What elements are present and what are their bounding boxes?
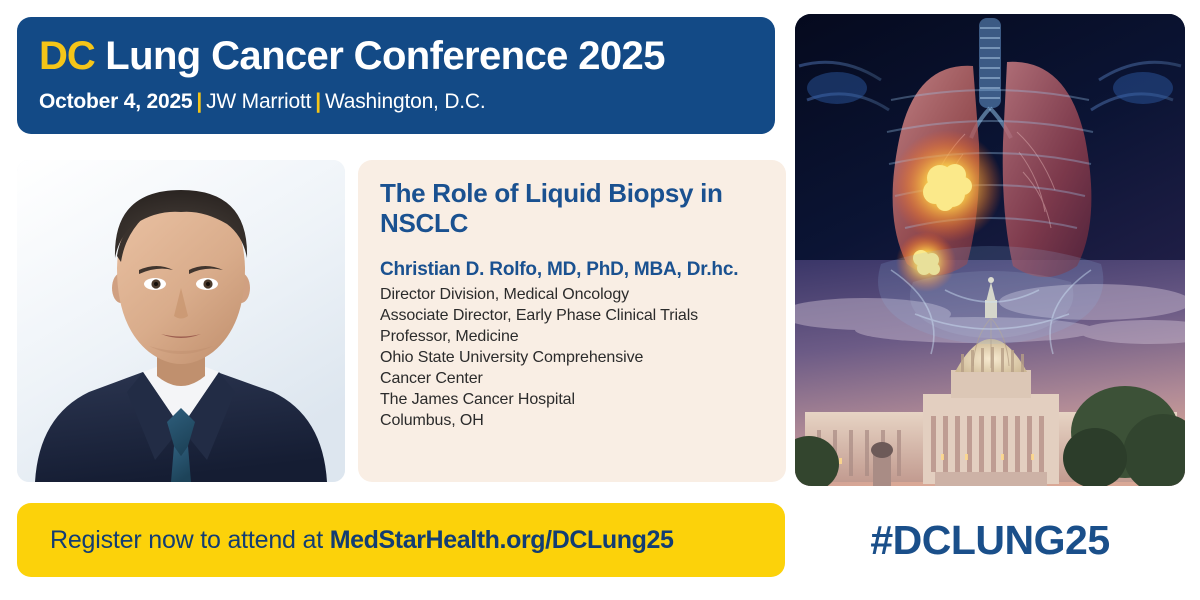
hero-lung-capitol-image xyxy=(795,14,1185,486)
conference-location: Washington, D.C. xyxy=(325,90,486,113)
tumor-primary xyxy=(891,130,1003,242)
conference-date: October 4, 2025 xyxy=(39,90,192,113)
affiliation-line: The James Cancer Hospital xyxy=(380,390,766,411)
event-hashtag: #DCLUNG25 xyxy=(795,503,1185,577)
affiliation-line: Director Division, Medical Oncology xyxy=(380,285,766,306)
speaker-headshot-photo xyxy=(17,160,345,482)
register-text: Register now to attend at MedStarHealth.… xyxy=(50,526,674,555)
speaker-info-panel: The Role of Liquid Biopsy in NSCLC Chris… xyxy=(358,160,786,482)
register-cta-bar[interactable]: Register now to attend at MedStarHealth.… xyxy=(17,503,785,577)
headshot-illustration xyxy=(17,160,345,482)
separator-pipe-2: | xyxy=(311,90,325,113)
conference-subtitle: October 4, 2025|JW Marriott|Washington, … xyxy=(39,90,775,114)
speaker-name: Christian D. Rolfo, MD, PhD, MBA, Dr.hc. xyxy=(380,259,766,282)
conference-title-rest: Lung Cancer Conference 2025 xyxy=(95,34,665,78)
conference-header-bar: DC Lung Cancer Conference 2025 October 4… xyxy=(17,17,775,134)
hero-illustration xyxy=(795,14,1185,486)
conference-title: DC Lung Cancer Conference 2025 xyxy=(39,35,775,77)
affiliation-line: Ohio State University Comprehensive xyxy=(380,348,766,369)
register-url[interactable]: MedStarHealth.org/DCLung25 xyxy=(330,526,674,554)
affiliation-line: Professor, Medicine xyxy=(380,327,766,348)
conference-title-accent: DC xyxy=(39,34,95,78)
separator-pipe-1: | xyxy=(192,90,206,113)
conference-venue: JW Marriott xyxy=(206,90,311,113)
speaker-affiliations: Director Division, Medical Oncology Asso… xyxy=(380,285,766,432)
affiliation-line: Associate Director, Early Phase Clinical… xyxy=(380,306,766,327)
talk-title: The Role of Liquid Biopsy in NSCLC xyxy=(380,178,766,238)
affiliation-line: Columbus, OH xyxy=(380,411,766,432)
register-prefix: Register now to attend at xyxy=(50,526,330,554)
affiliation-line: Cancer Center xyxy=(380,369,766,390)
